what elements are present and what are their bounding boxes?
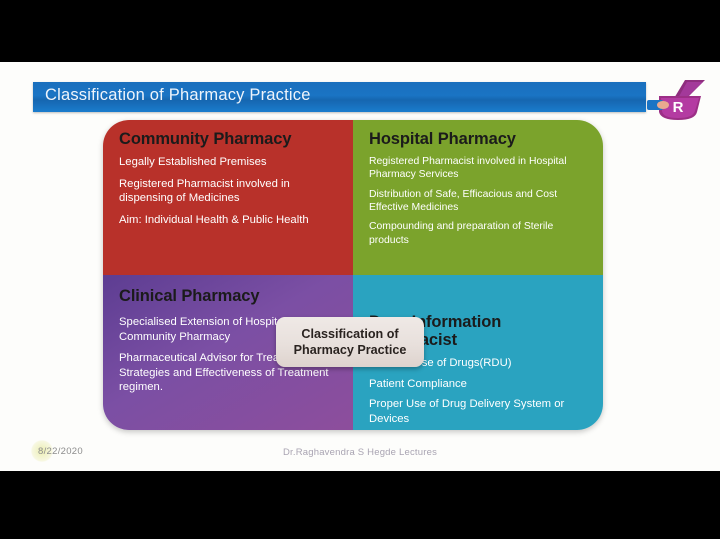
video-player-frame: Classification of Pharmacy Practice R Co… [0,0,720,539]
presentation-slide: Classification of Pharmacy Practice R Co… [0,62,720,471]
center-callout: Classification of Pharmacy Practice [276,317,424,367]
list-item: Proper Use of Drug Delivery System or De… [369,397,589,426]
list-item: Compounding and preparation of Sterile p… [369,220,589,247]
quadrant-community-pharmacy[interactable]: Community Pharmacy Legally Established P… [103,120,353,275]
list-item: Legally Established Premises [119,155,339,169]
list-item: Aim: Individual Health & Public Health [119,213,339,227]
callout-line-2: Pharmacy Practice [294,342,407,358]
quadrant-hospital-pharmacy[interactable]: Hospital Pharmacy Registered Pharmacist … [353,120,603,275]
quadrant-item-list: Registered Pharmacist involved in Hospit… [369,155,589,247]
callout-line-1: Classification of [301,326,398,342]
quadrant-title: Clinical Pharmacy [119,287,339,305]
quadrant-title: Hospital Pharmacy [369,130,589,148]
letterbox-bar-top [0,0,720,62]
slide-title-bar: Classification of Pharmacy Practice [33,82,646,112]
svg-text:R: R [673,99,684,116]
list-item: Distribution of Safe, Efficacious and Co… [369,188,589,215]
list-item: Registered Pharmacist involved in dispen… [119,177,339,206]
letterbox-bar-bottom [0,471,720,539]
quadrant-item-list: Legally Established Premises Registered … [119,155,339,227]
page-title: Classification of Pharmacy Practice [45,86,311,105]
quadrant-title: Community Pharmacy [119,130,339,148]
footer-credit: Dr.Raghavendra S Hegde Lectures [0,447,720,458]
list-item: Registered Pharmacist involved in Hospit… [369,155,589,182]
list-item: Patient Compliance [369,377,589,391]
classification-matrix: Community Pharmacy Legally Established P… [103,120,603,430]
mortar-and-pestle-icon: R [645,78,711,122]
